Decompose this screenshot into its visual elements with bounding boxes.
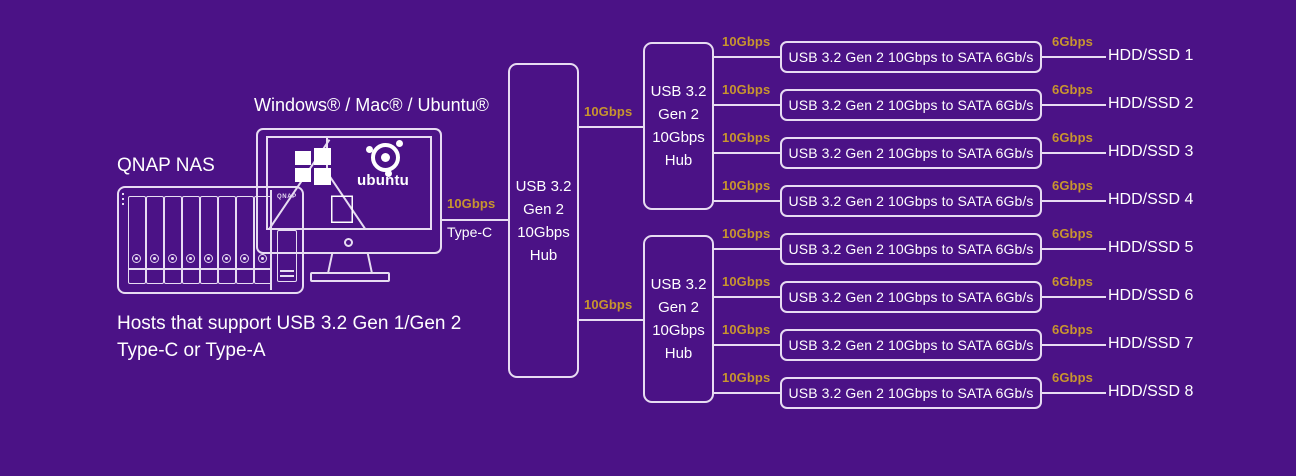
- adapter-port-speed: 10Gbps: [722, 322, 770, 337]
- sata-adapter-box[interactable]: USB 3.2 Gen 2 10Gbps to SATA 6Gb/s: [780, 329, 1042, 361]
- link-hub-to-adapter: [714, 248, 781, 250]
- nas-drive-bay: [182, 196, 200, 284]
- drive-speed-label: 6Gbps: [1052, 322, 1093, 337]
- drive-speed-label: 6Gbps: [1052, 130, 1093, 145]
- nas-bay-knob: [204, 254, 213, 263]
- adapter-port-speed: 10Gbps: [722, 34, 770, 49]
- ubuntu-logo-dot: [396, 140, 403, 147]
- drive-label: HDD/SSD 3: [1108, 143, 1193, 161]
- link-hub-to-adapter: [714, 152, 781, 154]
- ubuntu-logo-dot: [366, 146, 373, 153]
- link-adapter-to-drive: [1042, 152, 1106, 154]
- nas-bay-knob: [222, 254, 231, 263]
- sata-adapter-box[interactable]: USB 3.2 Gen 2 10Gbps to SATA 6Gb/s: [780, 233, 1042, 265]
- nas-drive-bay: [200, 196, 218, 284]
- adapter-port-speed: 10Gbps: [722, 178, 770, 193]
- nas-bay-divider: [218, 268, 236, 270]
- link-main-to-hub-bottom-speed: 10Gbps: [584, 297, 632, 312]
- sata-adapter-box[interactable]: USB 3.2 Gen 2 10Gbps to SATA 6Gb/s: [780, 137, 1042, 169]
- sata-adapter-label: USB 3.2 Gen 2 10Gbps to SATA 6Gb/s: [789, 145, 1034, 161]
- ubuntu-wordmark: ubuntu: [357, 172, 409, 189]
- link-adapter-to-drive: [1042, 200, 1106, 202]
- link-adapter-to-drive: [1042, 56, 1106, 58]
- nas-vent-dot: [122, 193, 124, 195]
- sata-adapter-label: USB 3.2 Gen 2 10Gbps to SATA 6Gb/s: [789, 289, 1034, 305]
- link-hub-to-adapter: [714, 296, 781, 298]
- sub-hub-top-label: USB 3.2 Gen 2 10Gbps Hub: [651, 80, 707, 172]
- apple-logo-icon: : [327, 190, 357, 230]
- nas-bay-divider: [236, 268, 254, 270]
- os-support-label: Windows® / Mac® / Ubuntu®: [254, 95, 489, 116]
- drive-speed-label: 6Gbps: [1052, 178, 1093, 193]
- adapter-port-speed: 10Gbps: [722, 370, 770, 385]
- link-adapter-to-drive: [1042, 392, 1106, 394]
- nas-bay-divider: [164, 268, 182, 270]
- monitor-base: [310, 272, 390, 282]
- drive-label: HDD/SSD 5: [1108, 239, 1193, 257]
- sata-adapter-box[interactable]: USB 3.2 Gen 2 10Gbps to SATA 6Gb/s: [780, 185, 1042, 217]
- drive-label: HDD/SSD 8: [1108, 383, 1193, 401]
- main-hub-box[interactable]: USB 3.2 Gen 2 10Gbps Hub: [508, 63, 579, 378]
- link-adapter-to-drive: [1042, 248, 1106, 250]
- nas-bay-knob: [150, 254, 159, 263]
- sub-hub-bottom-label: USB 3.2 Gen 2 10Gbps Hub: [651, 273, 707, 365]
- nas-drive-bay: [164, 196, 182, 284]
- link-main-to-hub-bottom: [578, 319, 645, 321]
- sata-adapter-label: USB 3.2 Gen 2 10Gbps to SATA 6Gb/s: [789, 337, 1034, 353]
- nas-drive-bay: [146, 196, 164, 284]
- drive-speed-label: 6Gbps: [1052, 274, 1093, 289]
- drive-speed-label: 6Gbps: [1052, 34, 1093, 49]
- nas-bay-knob: [240, 254, 249, 263]
- link-main-to-hub-top-speed: 10Gbps: [584, 104, 632, 119]
- sub-hub-top-box[interactable]: USB 3.2 Gen 2 10Gbps Hub: [643, 42, 714, 210]
- link-host-to-main-hub: [441, 219, 509, 221]
- sata-adapter-label: USB 3.2 Gen 2 10Gbps to SATA 6Gb/s: [789, 49, 1034, 65]
- drive-label: HDD/SSD 1: [1108, 47, 1193, 65]
- sata-adapter-label: USB 3.2 Gen 2 10Gbps to SATA 6Gb/s: [789, 97, 1034, 113]
- link-adapter-to-drive: [1042, 104, 1106, 106]
- adapter-port-speed: 10Gbps: [722, 226, 770, 241]
- link-adapter-to-drive: [1042, 344, 1106, 346]
- diagram-canvas: QNAP NAS Windows® / Mac® / Ubuntu® QNAP: [0, 0, 1296, 476]
- nas-vent-dot: [122, 203, 124, 205]
- adapter-port-speed: 10Gbps: [722, 82, 770, 97]
- qnap-nas-label: QNAP NAS: [117, 155, 215, 177]
- nas-drive-bay: [218, 196, 236, 284]
- sata-adapter-box[interactable]: USB 3.2 Gen 2 10Gbps to SATA 6Gb/s: [780, 41, 1042, 73]
- nas-port-bar: [280, 270, 294, 272]
- hosts-caption-line1: Hosts that support USB 3.2 Gen 1/Gen 2: [117, 310, 461, 337]
- link-host-connector-label: Type-C: [447, 224, 492, 240]
- adapter-port-speed: 10Gbps: [722, 274, 770, 289]
- drive-label: HDD/SSD 7: [1108, 335, 1193, 353]
- nas-drive-bay: [236, 196, 254, 284]
- nas-bay-knob: [132, 254, 141, 263]
- link-hub-to-adapter: [714, 200, 781, 202]
- link-host-speed-label: 10Gbps: [447, 196, 495, 211]
- nas-bay-divider: [200, 268, 218, 270]
- monitor-power-dot: [344, 238, 353, 247]
- windows-logo-icon: [295, 148, 331, 182]
- link-main-to-hub-top: [578, 126, 645, 128]
- main-hub-label: USB 3.2 Gen 2 10Gbps Hub: [516, 175, 572, 267]
- sub-hub-bottom-box[interactable]: USB 3.2 Gen 2 10Gbps Hub: [643, 235, 714, 403]
- sata-adapter-box[interactable]: USB 3.2 Gen 2 10Gbps to SATA 6Gb/s: [780, 377, 1042, 409]
- drive-speed-label: 6Gbps: [1052, 370, 1093, 385]
- nas-vent-dot: [122, 198, 124, 200]
- ubuntu-logo-center: [381, 153, 390, 162]
- adapter-port-speed: 10Gbps: [722, 130, 770, 145]
- sata-adapter-box[interactable]: USB 3.2 Gen 2 10Gbps to SATA 6Gb/s: [780, 281, 1042, 313]
- drive-speed-label: 6Gbps: [1052, 226, 1093, 241]
- nas-bay-knob: [258, 254, 267, 263]
- nas-bay-divider: [182, 268, 200, 270]
- link-hub-to-adapter: [714, 392, 781, 394]
- drive-label: HDD/SSD 2: [1108, 95, 1193, 113]
- nas-drive-bay: [128, 196, 146, 284]
- link-adapter-to-drive: [1042, 296, 1106, 298]
- monitor-stand-right: [367, 254, 373, 274]
- drive-speed-label: 6Gbps: [1052, 82, 1093, 97]
- monitor-stand-left: [327, 254, 333, 274]
- link-hub-to-adapter: [714, 104, 781, 106]
- nas-port-bar: [280, 275, 294, 277]
- sata-adapter-label: USB 3.2 Gen 2 10Gbps to SATA 6Gb/s: [789, 385, 1034, 401]
- nas-bay-knob: [168, 254, 177, 263]
- sata-adapter-label: USB 3.2 Gen 2 10Gbps to SATA 6Gb/s: [789, 193, 1034, 209]
- sata-adapter-label: USB 3.2 Gen 2 10Gbps to SATA 6Gb/s: [789, 241, 1034, 257]
- nas-bay-knob: [186, 254, 195, 263]
- nas-bay-divider: [146, 268, 164, 270]
- drive-label: HDD/SSD 4: [1108, 191, 1193, 209]
- drive-label: HDD/SSD 6: [1108, 287, 1193, 305]
- link-hub-to-adapter: [714, 344, 781, 346]
- hosts-caption-line2: Type-C or Type-A: [117, 337, 266, 364]
- nas-bay-divider: [128, 268, 146, 270]
- sata-adapter-box[interactable]: USB 3.2 Gen 2 10Gbps to SATA 6Gb/s: [780, 89, 1042, 121]
- link-hub-to-adapter: [714, 56, 781, 58]
